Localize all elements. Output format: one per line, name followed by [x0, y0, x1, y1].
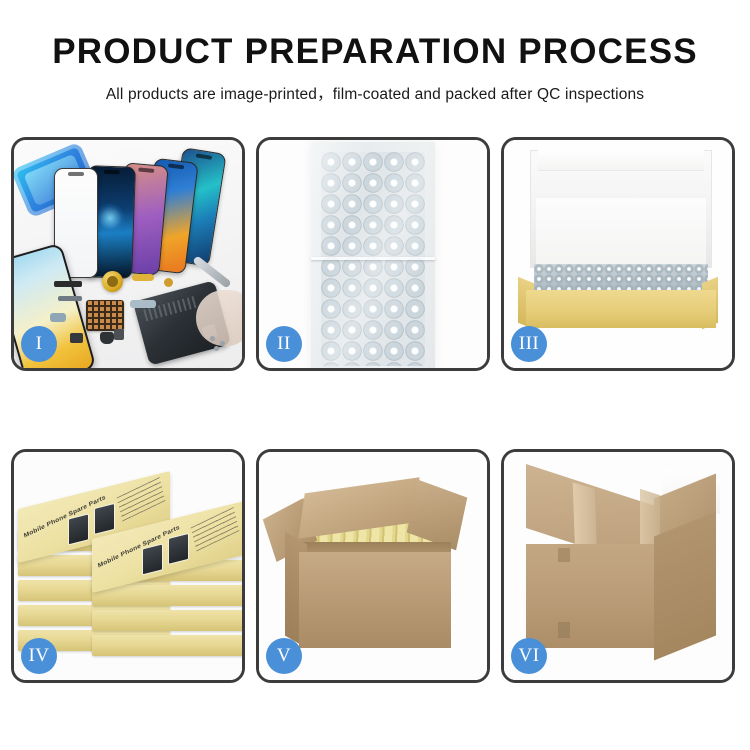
box-lid-spec-lines	[117, 477, 166, 521]
box-front-wall	[526, 290, 716, 328]
page-title: PRODUCT PREPARATION PROCESS	[0, 34, 750, 71]
connector-chip-icon	[86, 300, 124, 331]
phone-lineup	[50, 148, 240, 273]
carton-seam-mark	[558, 548, 570, 562]
gold-flex-part	[132, 274, 154, 281]
flex-cable-part	[54, 281, 82, 287]
step-badge-6: VI	[511, 638, 547, 674]
pouch-seam	[311, 257, 435, 260]
carton-front-wall	[299, 552, 451, 648]
step-panel-2: II	[256, 137, 490, 371]
step-panel-6: VI	[501, 449, 735, 683]
box-lid-thumbnail	[168, 533, 189, 565]
screw-part	[220, 341, 225, 346]
carton-front-face	[526, 544, 654, 648]
stacked-box-edge	[92, 610, 242, 631]
product-preparation-infographic: PRODUCT PREPARATION PROCESS All products…	[0, 0, 750, 750]
foam-sheet	[536, 198, 706, 270]
box-lid-spec-lines	[191, 507, 240, 551]
stacked-box-edge	[92, 635, 242, 656]
speaker-coil-icon	[102, 271, 123, 292]
speaker-part	[100, 332, 114, 344]
step-badge-5: V	[266, 638, 302, 674]
header: PRODUCT PREPARATION PROCESS All products…	[0, 0, 750, 104]
step-panel-4: Mobile Phone Spare Parts Mobile Phone Sp…	[11, 449, 245, 683]
page-subtitle: All products are image-printed，film-coat…	[0, 82, 750, 104]
step-panel-5: V	[256, 449, 490, 683]
small-part	[114, 329, 124, 340]
small-part	[50, 313, 66, 322]
gold-washer-part	[164, 278, 173, 287]
small-part	[58, 296, 82, 301]
step-panel-3: III	[501, 137, 735, 371]
screw-part	[210, 336, 215, 341]
ribbon-cable-part	[130, 300, 156, 308]
box-lid-thumbnail	[142, 543, 163, 575]
small-part	[70, 333, 83, 343]
step-panel-1: I	[11, 137, 245, 371]
carton-right-face	[654, 511, 716, 660]
screw-part	[214, 346, 219, 351]
bubble-wrap-pouch	[311, 142, 435, 368]
step-badge-1: I	[21, 326, 57, 362]
carton-seam-mark	[558, 622, 570, 638]
steps-grid: I II III	[11, 137, 739, 683]
step-badge-4: IV	[21, 638, 57, 674]
step-badge-2: II	[266, 326, 302, 362]
stacked-box-edge	[92, 585, 242, 606]
step-badge-3: III	[511, 326, 547, 362]
box-lid-thumbnail	[68, 513, 89, 545]
box-lid-thumbnail	[94, 503, 115, 535]
